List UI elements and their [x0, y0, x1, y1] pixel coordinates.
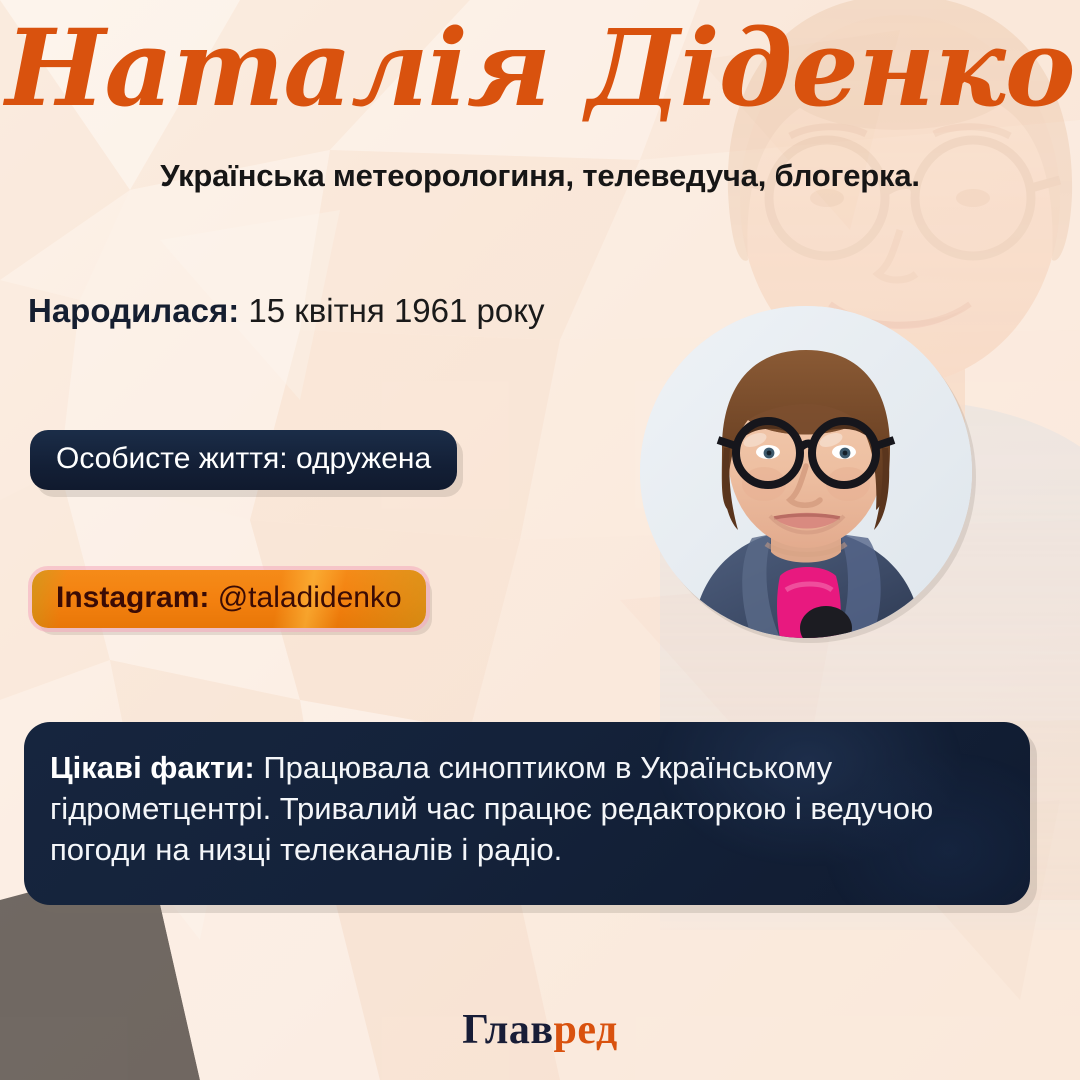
instagram-badge[interactable]: Instagram: @taladidenko — [32, 570, 426, 628]
avatar — [640, 306, 972, 638]
born-label: Народилася: — [28, 292, 239, 329]
born-value: 15 квітня 1961 року — [248, 292, 544, 329]
facts-label: Цікаві факти: — [50, 750, 255, 785]
brand-logo-part-orange: ред — [554, 1007, 618, 1053]
page-subtitle: Українська метеорологиня, телеведуча, бл… — [0, 158, 1080, 194]
interesting-facts-box: Цікаві факти: Працювала синоптиком в Укр… — [24, 722, 1030, 905]
page-title: Наталія Діденко — [0, 14, 1080, 122]
infographic-card: Наталія Діденко Українська метеорологиня… — [0, 0, 1080, 1080]
personal-life-text: Особисте життя: одружена — [56, 442, 431, 475]
born-line: Народилася: 15 квітня 1961 року — [28, 292, 545, 330]
instagram-label: Instagram: — [56, 581, 209, 614]
brand-logo[interactable]: Главред — [0, 1006, 1080, 1054]
brand-logo-part-dark: Глав — [462, 1007, 553, 1053]
instagram-handle[interactable]: @taladidenko — [218, 581, 402, 614]
personal-life-badge: Особисте життя: одружена — [30, 430, 457, 490]
